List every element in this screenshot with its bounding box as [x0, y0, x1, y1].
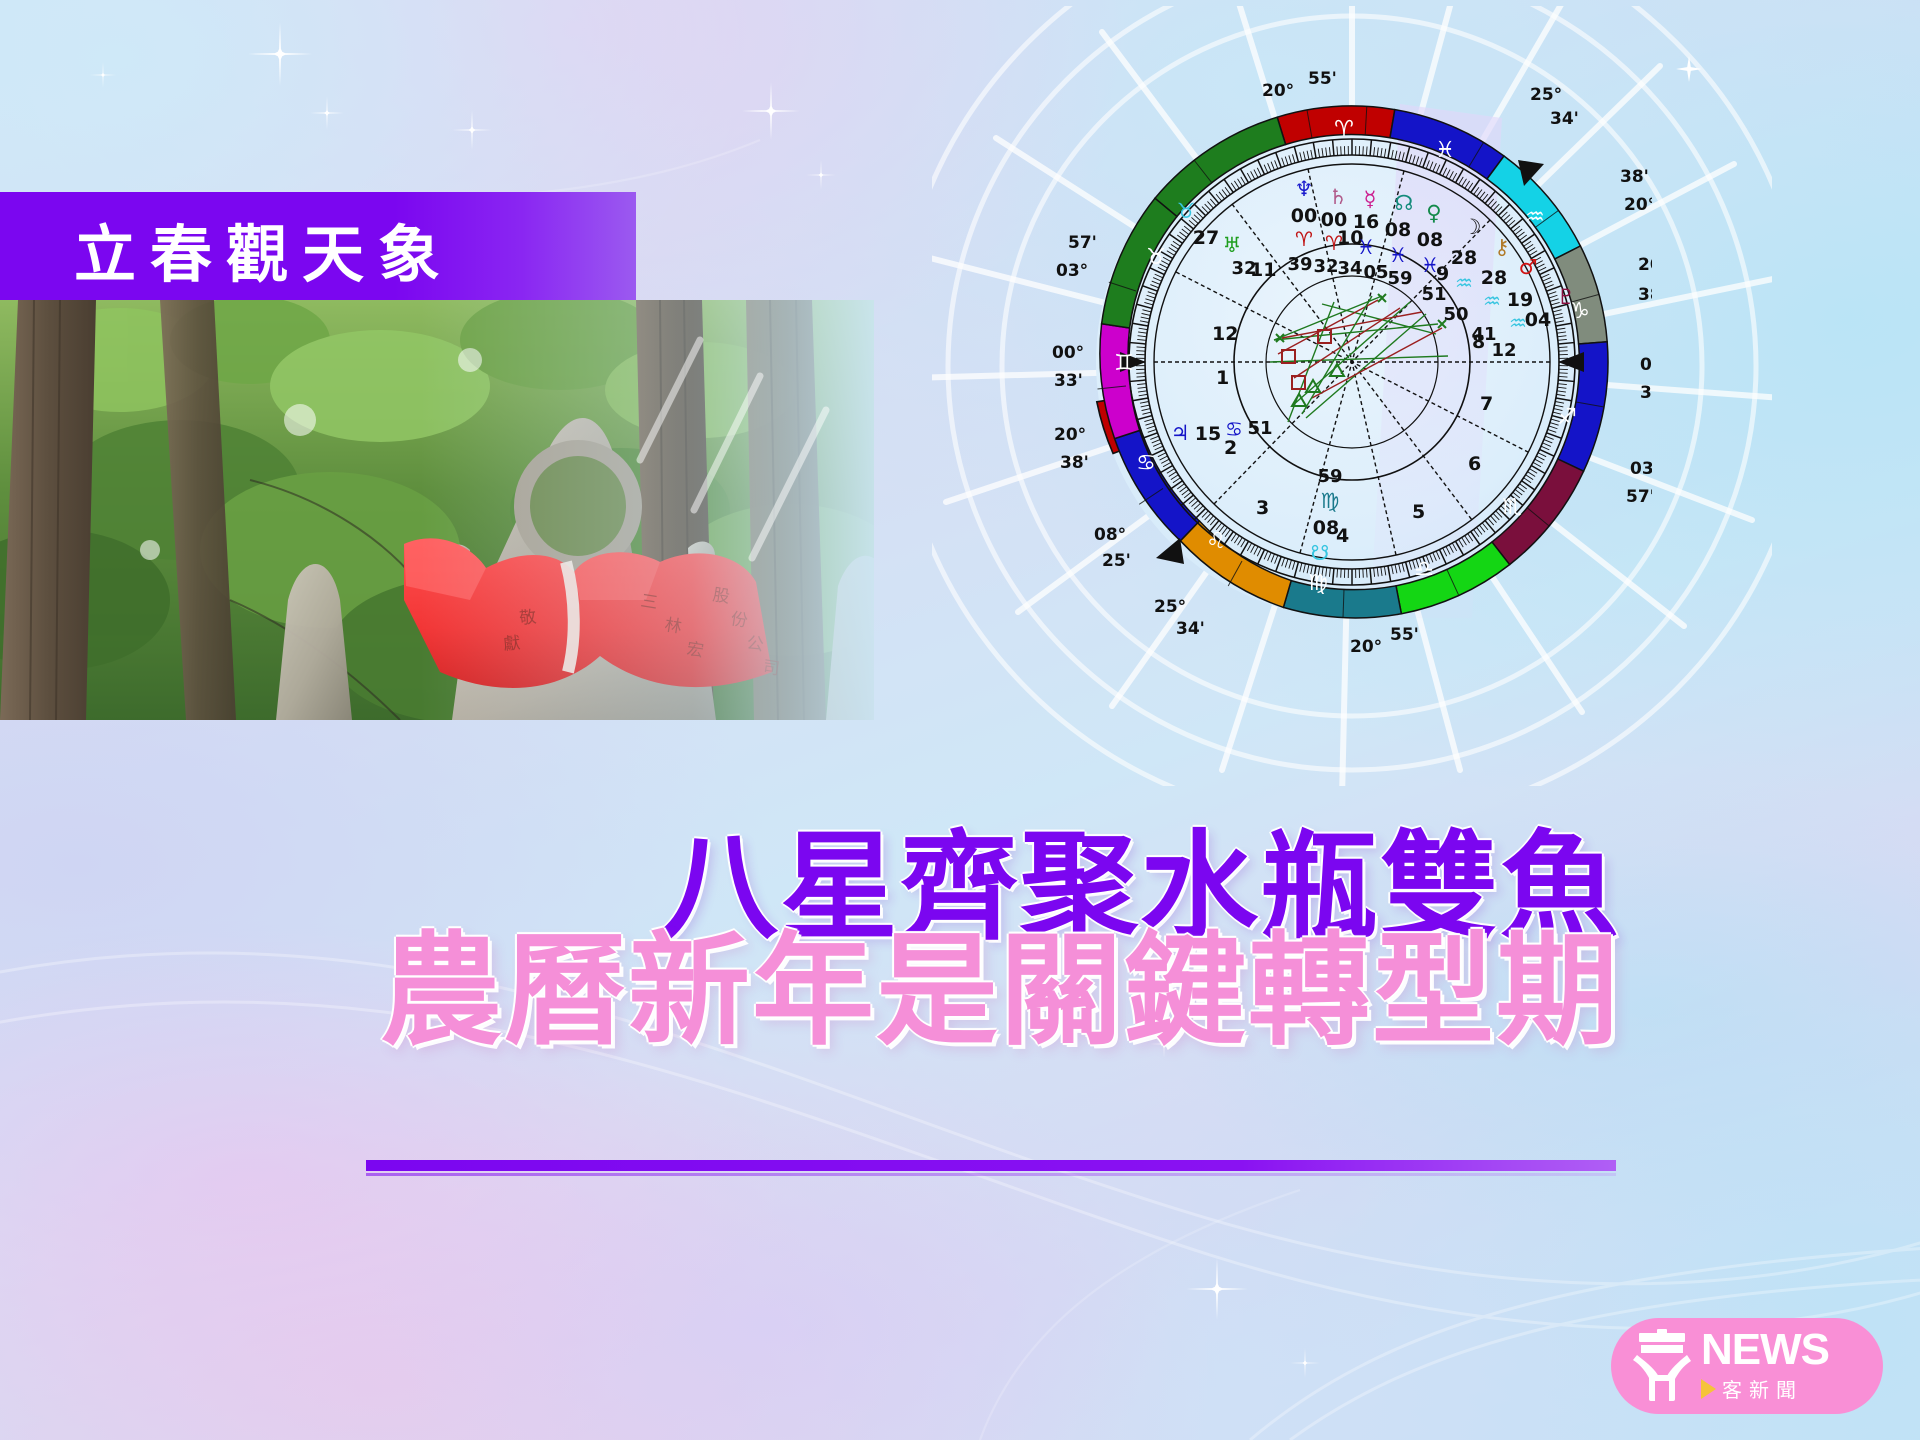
planet-glyph-chiron: ⚷: [1494, 235, 1509, 259]
planet-sign: ♉: [1177, 199, 1196, 223]
cusp-degree: 00°: [1640, 355, 1652, 375]
channel-logo[interactable]: NEWS 客新聞: [1611, 1318, 1883, 1414]
planet-sign: ♍: [1321, 489, 1340, 513]
planet-sign: ♋: [1225, 417, 1243, 441]
poster-canvas: 三 林 宏 股 份 公 司 敬 獻: [0, 0, 1920, 1440]
photo-illustration: 三 林 宏 股 份 公 司 敬 獻: [0, 300, 874, 720]
underline-secondary: [366, 1173, 1616, 1176]
planet-minute: 59: [1387, 268, 1412, 289]
house-number: 5: [1412, 501, 1425, 523]
house-number: 3: [1256, 497, 1269, 519]
sign-glyph-scorpio: ♏: [1502, 495, 1522, 520]
planet-sign: ♈: [1325, 231, 1343, 255]
planet-degree: 15: [1195, 423, 1221, 445]
logo-subtitle-row: 客新聞: [1701, 1374, 1829, 1403]
sign-glyph-sagittarius: ♐: [1557, 405, 1577, 430]
underline-primary: [366, 1160, 1616, 1171]
natal-wheel: 11 10 9 8 7 6 5 4 3 2 1 12 ♈ ♓ ♒: [1052, 52, 1652, 672]
cusp-degree: 20°: [1054, 425, 1086, 445]
planet-degree: 28: [1481, 267, 1507, 289]
cusp-minute: 20°: [1624, 195, 1652, 215]
sign-glyph-taurus: ♉: [1146, 245, 1166, 270]
headline-underline: [366, 1160, 1616, 1176]
planet-glyph-south-node: ☋: [1311, 541, 1330, 565]
planet-glyph-venus: ♀: [1426, 201, 1441, 225]
cusp-minute: 33': [1640, 383, 1652, 403]
cusp-minute: 25': [1102, 551, 1131, 571]
sign-glyph-aquarius: ♒: [1525, 205, 1545, 230]
planet-minute: 32: [1313, 256, 1338, 277]
headline-block: 八星齊聚水瓶雙魚 農曆新年是關鍵轉型期: [340, 828, 1620, 1052]
planet-minute: 51: [1421, 284, 1446, 305]
astrology-chart: 11 10 9 8 7 6 5 4 3 2 1 12 ♈ ♓ ♒: [1052, 52, 1652, 672]
planet-glyph-pluto: ♇: [1557, 285, 1576, 309]
planet-minute: 32: [1231, 258, 1256, 279]
cusp-degree: 20°: [1638, 255, 1652, 275]
cusp-minute: 34': [1176, 619, 1205, 639]
logo-subtitle-label: 客新聞: [1722, 1374, 1803, 1403]
planet-glyph-neptune: ♆: [1295, 177, 1314, 201]
planet-degree: 28: [1451, 247, 1477, 269]
planet-minute: 50: [1443, 304, 1468, 325]
planet-minute: 12: [1491, 340, 1516, 361]
cusp-degree: 00°: [1052, 343, 1084, 363]
sign-glyph-leo: ♌: [1206, 529, 1226, 554]
sign-glyph-libra: ♎: [1414, 557, 1434, 582]
sign-glyph-aries: ♈: [1334, 117, 1354, 142]
planet-sign: ♓: [1389, 243, 1407, 267]
cusp-minute: 38': [1638, 285, 1652, 305]
planet-minute: 51: [1247, 418, 1272, 439]
cusp-minute: 55': [1390, 625, 1419, 645]
house-number: 7: [1480, 393, 1493, 415]
house-number: 12: [1212, 323, 1238, 345]
hakka-ke-character-icon: [1625, 1329, 1699, 1403]
planet-degree: 08: [1385, 219, 1411, 241]
cusp-minute: 55': [1308, 69, 1337, 89]
cusp-degree: 03°: [1630, 459, 1652, 479]
planet-degree: 08: [1417, 229, 1443, 251]
cusp-minute: 03°: [1056, 261, 1088, 281]
cusp-minute: 57': [1626, 487, 1652, 507]
cusp-degree: 25°: [1530, 85, 1562, 105]
planet-glyph-north-node: ☊: [1395, 191, 1414, 215]
house-number: 1: [1216, 367, 1229, 389]
planet-degree: 16: [1353, 211, 1379, 233]
cusp-degree: 20°: [1350, 637, 1382, 657]
planet-sign: ♒: [1483, 289, 1501, 313]
cusp-minute: 33': [1054, 371, 1083, 391]
planet-minute: 34: [1337, 258, 1362, 279]
planet-degree: 04: [1525, 309, 1551, 331]
planet-degree: 08: [1313, 517, 1339, 539]
cusp-degree: 38': [1620, 167, 1649, 187]
cusp-degree: 57': [1068, 233, 1097, 253]
planet-degree: 00: [1291, 205, 1317, 227]
planet-glyph-saturn: ♄: [1329, 185, 1348, 209]
planet-minute: 05: [1363, 262, 1388, 283]
planet-degree: 00: [1321, 209, 1347, 231]
planet-degree: 19: [1507, 289, 1533, 311]
sign-glyph-cancer: ♋: [1136, 451, 1156, 476]
planet-sign: ♓: [1357, 235, 1375, 259]
planet-glyph-uranus: ♅: [1223, 233, 1242, 257]
cusp-degree: 20°: [1262, 81, 1294, 101]
planet-minute: 39: [1287, 254, 1312, 275]
planet-glyph-jupiter: ♃: [1171, 421, 1190, 445]
kicker-label: 立春觀天象: [74, 204, 454, 294]
planet-glyph-mars: ♂: [1519, 255, 1538, 279]
cusp-minute: 38': [1060, 453, 1089, 473]
planet-degree: 27: [1193, 227, 1219, 249]
sign-glyph-gemini: ♊: [1114, 351, 1134, 376]
logo-news-label: NEWS: [1701, 1329, 1829, 1371]
planet-sign: ♓: [1421, 253, 1439, 277]
headline-line-2: 農曆新年是關鍵轉型期: [340, 930, 1620, 1052]
cusp-minute: 34': [1550, 109, 1579, 129]
news-photo: 三 林 宏 股 份 公 司 敬 獻: [0, 300, 874, 720]
sign-glyph-pisces: ♓: [1435, 138, 1455, 163]
play-triangle-icon: [1701, 1379, 1716, 1399]
cusp-degree: 08°: [1094, 525, 1126, 545]
cusp-degree: 25°: [1154, 597, 1186, 617]
planet-minute: 59: [1317, 466, 1342, 487]
house-number: 6: [1468, 453, 1481, 475]
planet-sign: ♈: [1295, 227, 1313, 251]
logo-text-group: NEWS 客新聞: [1701, 1329, 1829, 1403]
sign-glyph-virgo: ♍: [1308, 571, 1328, 596]
planet-glyph-mercury: ☿: [1364, 187, 1377, 211]
planet-sign: ♒: [1455, 271, 1473, 295]
planet-glyph-moon: ☽: [1463, 215, 1482, 239]
